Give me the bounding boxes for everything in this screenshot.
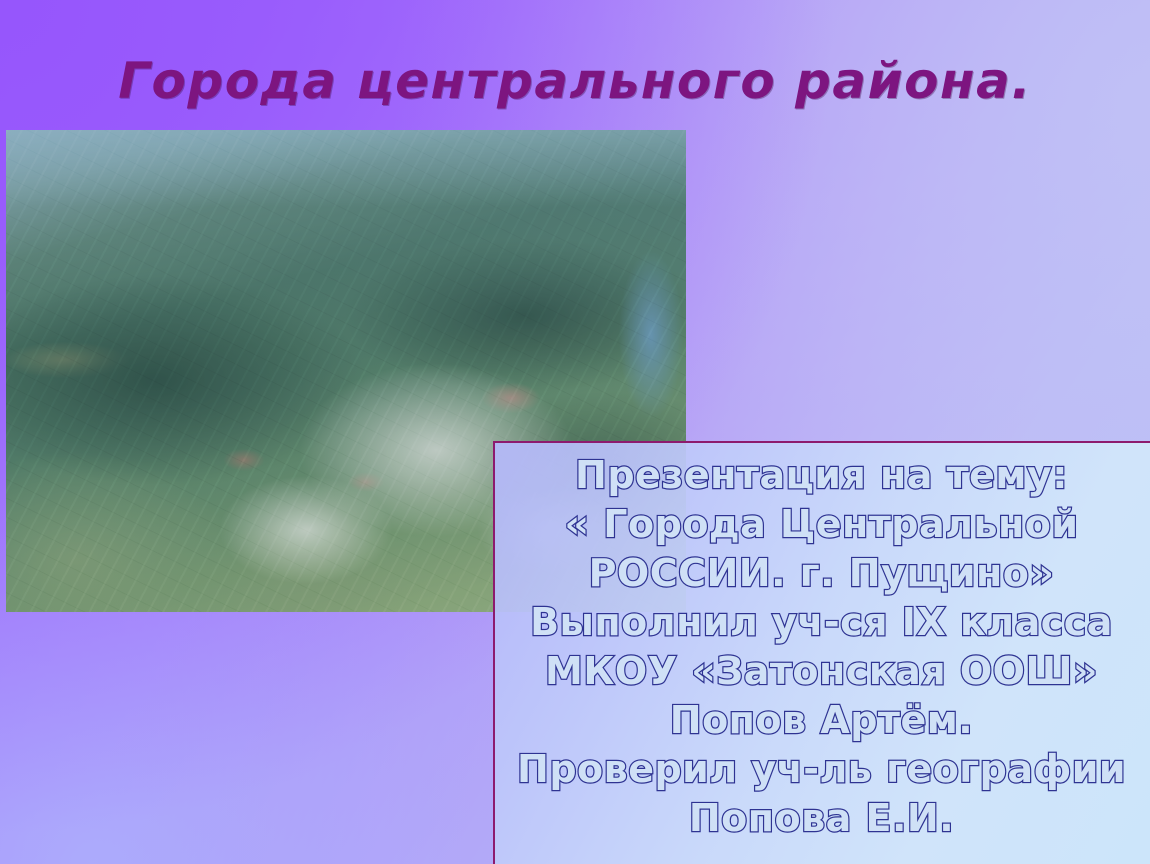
caption-line-4: Выполнил уч-ся IX класса (493, 598, 1150, 647)
caption-line-3: РОССИИ. г. Пущино» (493, 549, 1150, 598)
caption-line-2: « Города Центральной (493, 500, 1150, 549)
caption-line-1: Презентация на тему: (493, 451, 1150, 500)
page-title: Города центрального района. (0, 52, 1150, 110)
caption-line-6: Попов Артём. (493, 696, 1150, 745)
caption-line-5: МКОУ «Затонская ООШ» (493, 647, 1150, 696)
caption-line-7: Проверил уч-ль географии (493, 745, 1150, 794)
presentation-slide: Города центрального района. Презентация … (0, 0, 1150, 864)
wordart-caption-block: Презентация на тему: « Города Центрально… (493, 451, 1150, 843)
caption-line-8: Попова Е.И. (493, 794, 1150, 843)
